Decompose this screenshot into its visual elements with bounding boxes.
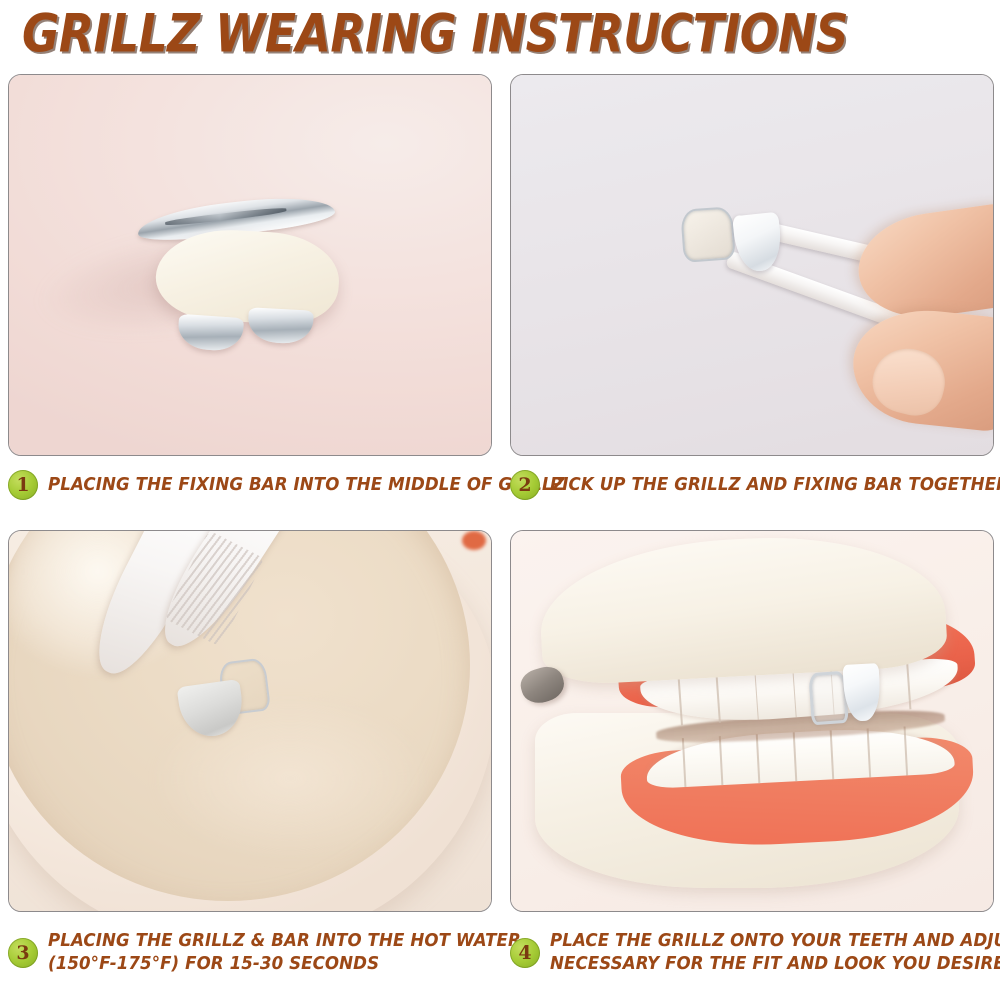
step-caption-text-2: PICK UP THE GRILLZ AND FIXING BAR TOGETH…: [550, 474, 1000, 497]
step-card-1: 1 PLACING THE FIXING BAR INTO THE MIDDLE…: [8, 74, 492, 500]
step-photo-1: [8, 74, 492, 456]
step-caption-2: 2 PICK UP THE GRILLZ AND FIXING BAR TOGE…: [510, 470, 994, 500]
header-bar: GRILLZ WEARING INSTRUCTIONS: [0, 0, 1000, 66]
caption-line-2: NECESSARY FOR THE FIT AND LOOK YOU DESIR…: [550, 953, 1000, 976]
step-photo-2: [510, 74, 994, 456]
caption-line-2: (150°F-175°F) FOR 15-30 SECONDS: [48, 953, 521, 976]
step-card-2: 2 PICK UP THE GRILLZ AND FIXING BAR TOGE…: [510, 74, 994, 500]
step-badge-4: 4: [510, 938, 540, 968]
step-photo-3: [8, 530, 492, 912]
step-caption-text-4: PLACE THE GRILLZ ONTO YOUR TEETH AND ADJ…: [550, 930, 1000, 976]
step-badge-1: 1: [8, 470, 38, 500]
step-badge-3: 3: [8, 938, 38, 968]
step-photo-4: [510, 530, 994, 912]
caption-line-1: PLACING THE GRILLZ & BAR INTO THE HOT WA…: [48, 931, 521, 951]
background-accent-dot: [462, 531, 486, 550]
step-caption-text-1: PLACING THE FIXING BAR INTO THE MIDDLE O…: [48, 474, 565, 497]
step-caption-4: 4 PLACE THE GRILLZ ONTO YOUR TEETH AND A…: [510, 930, 994, 976]
step-card-3: 3 PLACING THE GRILLZ & BAR INTO THE HOT …: [8, 530, 492, 976]
step-caption-text-3: PLACING THE GRILLZ & BAR INTO THE HOT WA…: [48, 930, 521, 976]
caption-line-1: PLACE THE GRILLZ ONTO YOUR TEETH AND ADJ…: [550, 931, 1000, 951]
steps-grid: 1 PLACING THE FIXING BAR INTO THE MIDDLE…: [0, 66, 1000, 994]
step-caption-1: 1 PLACING THE FIXING BAR INTO THE MIDDLE…: [8, 470, 492, 500]
step-badge-2: 2: [510, 470, 540, 500]
step-card-4: 4 PLACE THE GRILLZ ONTO YOUR TEETH AND A…: [510, 530, 994, 976]
grillz-frame: [680, 206, 736, 263]
step-caption-3: 3 PLACING THE GRILLZ & BAR INTO THE HOT …: [8, 930, 492, 976]
page-title: GRILLZ WEARING INSTRUCTIONS: [22, 2, 848, 67]
